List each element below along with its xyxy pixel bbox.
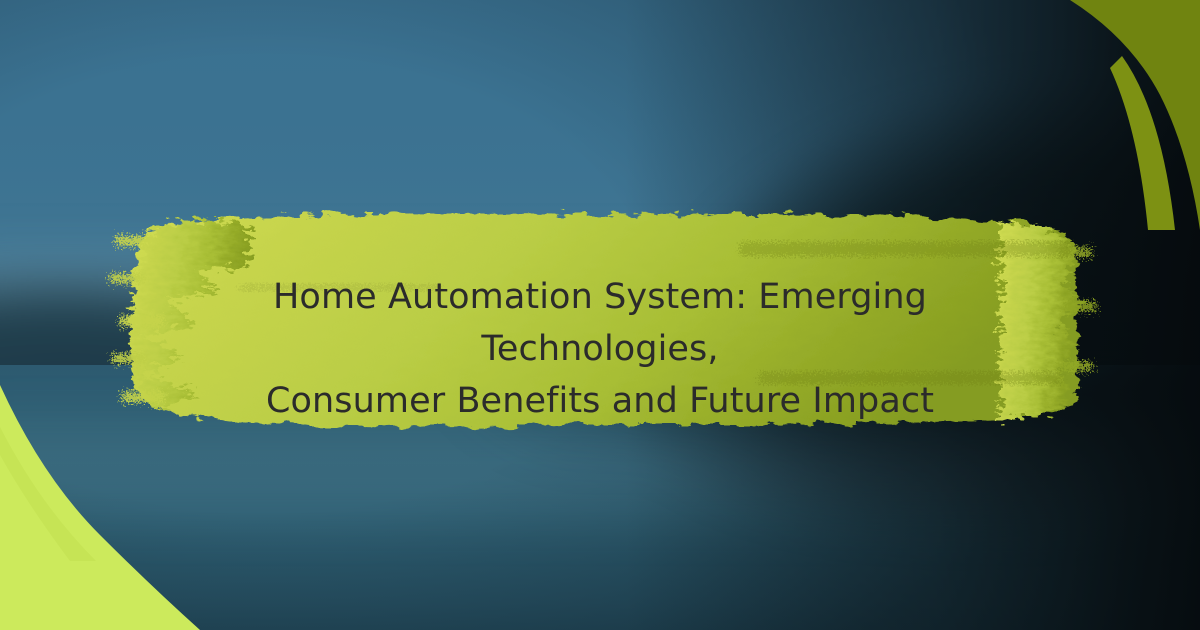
- cover-canvas: Home Automation System: Emerging Technol…: [0, 0, 1200, 630]
- title-block: Home Automation System: Emerging Technol…: [150, 272, 1050, 427]
- page-title: Home Automation System: Emerging Technol…: [150, 272, 1050, 427]
